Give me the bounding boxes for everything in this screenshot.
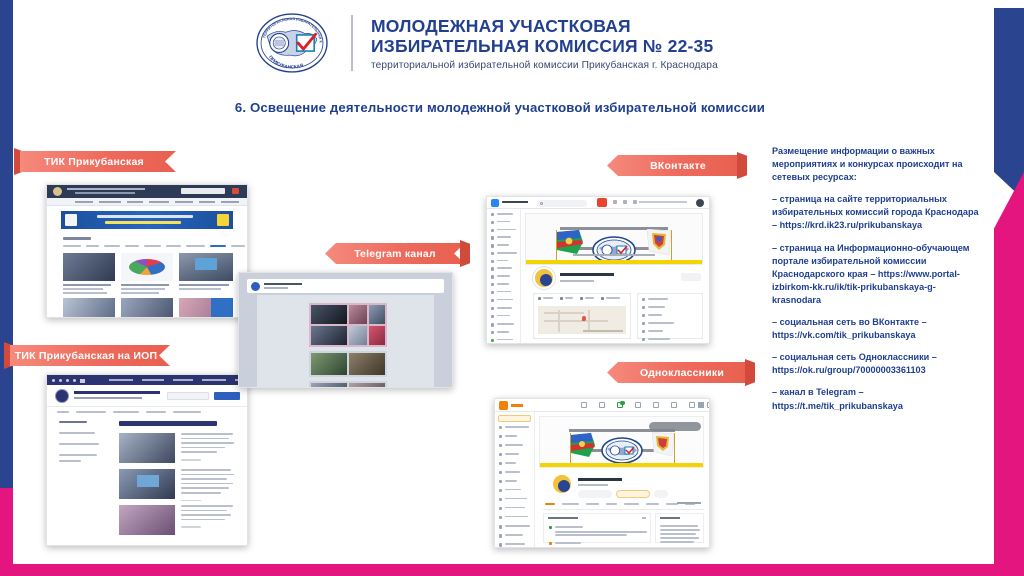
iop-news-text-1 — [181, 433, 235, 461]
vk-right-links-panel[interactable] — [637, 293, 703, 339]
vk-more-button[interactable] — [681, 273, 701, 281]
ok-recommendations-title — [548, 517, 578, 519]
info-intro: Размещение информации о важных мероприят… — [772, 145, 984, 184]
vk-address-text — [639, 201, 687, 203]
slide-canvas: ТЕРРИТОРИАЛЬНАЯ ИЗБИРАТЕЛЬНАЯ КОМИССИЯ П… — [0, 0, 1024, 576]
ok-group-name — [578, 478, 622, 481]
ribbon-tik: ТИК Прикубанская — [20, 151, 176, 172]
ok-nav-icons[interactable] — [581, 402, 710, 408]
ok-icon-messages — [599, 402, 605, 408]
thumbnail-ok[interactable] — [494, 398, 710, 548]
ribbon-telegram: Telegram канал — [325, 243, 465, 264]
ok-tabs-divider — [543, 509, 704, 510]
telegram-channel-subscribers — [264, 287, 288, 289]
vk-content-tabs[interactable] — [538, 297, 620, 300]
ok-cover-banner[interactable] — [539, 416, 704, 468]
ok-publications-button[interactable] — [498, 415, 531, 422]
tik-news-image-6[interactable] — [179, 298, 233, 318]
ok-recommendations-panel — [543, 513, 651, 543]
info-item-5: – канал в Telegram – https://t.me/tik_pr… — [772, 386, 984, 412]
vk-map-preview[interactable] — [538, 306, 626, 334]
tik-news-image-4[interactable] — [63, 298, 115, 318]
telegram-message-sheet — [257, 295, 434, 387]
iop-news-text-3 — [181, 505, 235, 528]
iop-breadcrumb[interactable] — [57, 411, 201, 413]
ok-cover-yellow-band — [540, 463, 703, 467]
header-line-3: территориальной избирательной комиссии П… — [371, 60, 718, 71]
ribbon-tik-iop: ТИК Прикубанская на ИОП — [10, 345, 170, 366]
tik-site-title-line2 — [75, 192, 135, 194]
ok-menu-icon[interactable] — [698, 402, 704, 408]
ribbon-tail-ok — [745, 359, 755, 386]
iop-top-bar[interactable] — [47, 375, 247, 385]
vk-group-avatar[interactable] — [533, 267, 555, 289]
telegram-photo-collage-2[interactable] — [309, 351, 387, 377]
ok-brand-label — [511, 404, 523, 407]
thumbnail-vk[interactable] — [486, 196, 710, 344]
vk-top-bar[interactable] — [487, 197, 709, 209]
vk-cover-yellow-band — [526, 260, 702, 264]
thumbnail-tik-site[interactable] — [46, 184, 248, 318]
vk-group-subtitle — [560, 280, 594, 282]
ok-recommendation-item-2[interactable] — [549, 542, 643, 548]
ok-message-button[interactable] — [578, 490, 612, 498]
tik-banner-left-icon — [65, 214, 77, 226]
thumbnail-telegram[interactable] — [238, 272, 453, 388]
tik-site-title-line1 — [67, 188, 145, 190]
header-divider — [351, 15, 353, 71]
right-magenta-strip — [994, 172, 1024, 576]
iop-news-image-2[interactable] — [119, 469, 175, 499]
vk-logo-icon — [491, 199, 499, 207]
info-item-4: – социальная сеть Одноклассники – https:… — [772, 351, 984, 377]
vk-left-content-panel — [533, 293, 631, 339]
ribbon-vk: ВКонтакте — [607, 155, 741, 176]
ok-icon-feed — [581, 402, 587, 408]
ok-about-title — [660, 517, 680, 519]
iop-logo-icon — [55, 389, 69, 403]
ok-icon-games — [707, 402, 710, 408]
tik-site-search-input[interactable] — [181, 188, 225, 194]
ok-more-button[interactable] — [654, 490, 668, 498]
vk-icon-3 — [633, 200, 637, 204]
iop-sidebar-menu[interactable] — [59, 421, 111, 462]
tik-site-election-banner[interactable] — [61, 211, 233, 229]
ribbon-tail-vk — [737, 152, 747, 179]
vk-cover-address — [573, 254, 655, 256]
ok-tabs[interactable] — [545, 503, 695, 505]
telegram-photo-collage-1[interactable] — [309, 303, 387, 347]
left-magenta-strip — [0, 488, 13, 576]
iop-news-image-1[interactable] — [119, 433, 175, 463]
tik-site-navbar[interactable] — [47, 198, 247, 206]
ok-icon-notifications — [617, 402, 623, 408]
page-title: 6. Освещение деятельности молодежной уча… — [0, 100, 1000, 115]
ok-sidebar[interactable] — [495, 412, 535, 547]
telegram-photo-collage-3[interactable] — [309, 381, 387, 388]
tik-banner-line-1 — [97, 215, 193, 218]
telegram-channel-name — [264, 283, 302, 285]
info-item-1: – страница на сайте территориальных изби… — [772, 193, 984, 232]
header-text-block: МОЛОДЕЖНАЯ УЧАСТКОВАЯ ИЗБИРАТЕЛЬНАЯ КОМИ… — [371, 15, 718, 70]
ok-about-panel — [655, 513, 704, 543]
iop-search-input[interactable] — [167, 392, 209, 400]
iop-portal-subtitle — [74, 397, 142, 399]
vk-sidebar[interactable] — [487, 209, 521, 343]
ribbon-tail-telegram — [460, 240, 470, 267]
commission-emblem-icon: ТЕРРИТОРИАЛЬНАЯ ИЗБИРАТЕЛЬНАЯ КОМИССИЯ П… — [255, 12, 329, 74]
ok-icon-discussions — [635, 402, 641, 408]
iop-brand-bar — [47, 385, 247, 407]
ok-recommendation-item-1[interactable] — [549, 526, 647, 536]
tik-news-image-1[interactable] — [63, 253, 115, 281]
ok-logo-icon — [499, 401, 508, 410]
vk-brand-label — [502, 201, 528, 203]
info-item-3: – социальная сеть во ВКонтакте – https:/… — [772, 316, 984, 342]
tik-banner-line-2 — [105, 221, 181, 224]
vk-group-name — [560, 273, 614, 276]
telegram-channel-header[interactable] — [247, 279, 444, 293]
ok-group-avatar[interactable] — [551, 473, 573, 495]
iop-news-image-3[interactable] — [119, 505, 175, 535]
telegram-channel-avatar — [251, 282, 260, 291]
ok-icon-gifts — [653, 402, 659, 408]
vk-cover-banner[interactable] — [525, 213, 703, 265]
vk-cover-emblem-icon — [592, 236, 636, 269]
vk-search-icon — [540, 202, 543, 205]
header-line-1: МОЛОДЕЖНАЯ УЧАСТКОВАЯ — [371, 17, 718, 37]
iop-page-heading — [119, 421, 217, 426]
ok-recommendations-collapse-icon[interactable] — [642, 517, 646, 519]
tik-site-filter-tabs[interactable] — [63, 245, 245, 247]
vk-avatar[interactable] — [696, 199, 704, 207]
thumbnail-iop-site[interactable] — [46, 374, 248, 546]
vk-toolbar-icons[interactable] — [613, 200, 637, 204]
tik-site-flag-icon — [232, 188, 239, 194]
iop-news-text-2 — [181, 469, 235, 501]
ok-cover-edit-overlay[interactable] — [649, 422, 701, 431]
left-navy-strip — [0, 0, 13, 500]
info-text-column: Размещение информации о важных мероприят… — [772, 145, 984, 422]
info-item-2: – страница на Информационно-обучающем по… — [772, 242, 984, 307]
tik-news-image-5[interactable] — [121, 298, 173, 318]
tik-news-image-2[interactable] — [121, 253, 173, 281]
tik-news-image-3[interactable] — [179, 253, 233, 281]
ok-subscribe-button[interactable] — [616, 490, 650, 498]
vk-icon-1 — [613, 200, 617, 204]
iop-portal-title — [74, 391, 160, 394]
tik-site-logo-icon — [53, 187, 62, 196]
ok-icon-events — [671, 402, 677, 408]
ok-top-bar[interactable] — [495, 399, 709, 412]
bottom-magenta-bar — [0, 564, 1024, 576]
slide-header: ТЕРРИТОРИАЛЬНАЯ ИЗБИРАТЕЛЬНАЯ КОМИССИЯ П… — [255, 12, 718, 74]
tik-site-section-heading — [63, 237, 91, 240]
header-line-2: ИЗБИРАТЕЛЬНАЯ КОМИССИЯ № 22-35 — [371, 37, 718, 57]
vk-icon-2 — [623, 200, 627, 204]
tik-site-header-bar — [47, 185, 247, 198]
iop-search-button[interactable] — [214, 392, 240, 400]
vk-search-input[interactable] — [537, 200, 587, 207]
ok-share-button[interactable] — [677, 502, 701, 504]
ok-icon-music — [689, 402, 695, 408]
ok-group-subtitle — [578, 484, 608, 486]
top-right-white-gap — [994, 0, 1024, 8]
tik-banner-right-icon — [217, 214, 229, 226]
ribbon-ok: Одноклассники — [607, 362, 749, 383]
vk-notification-badge[interactable] — [597, 198, 607, 207]
